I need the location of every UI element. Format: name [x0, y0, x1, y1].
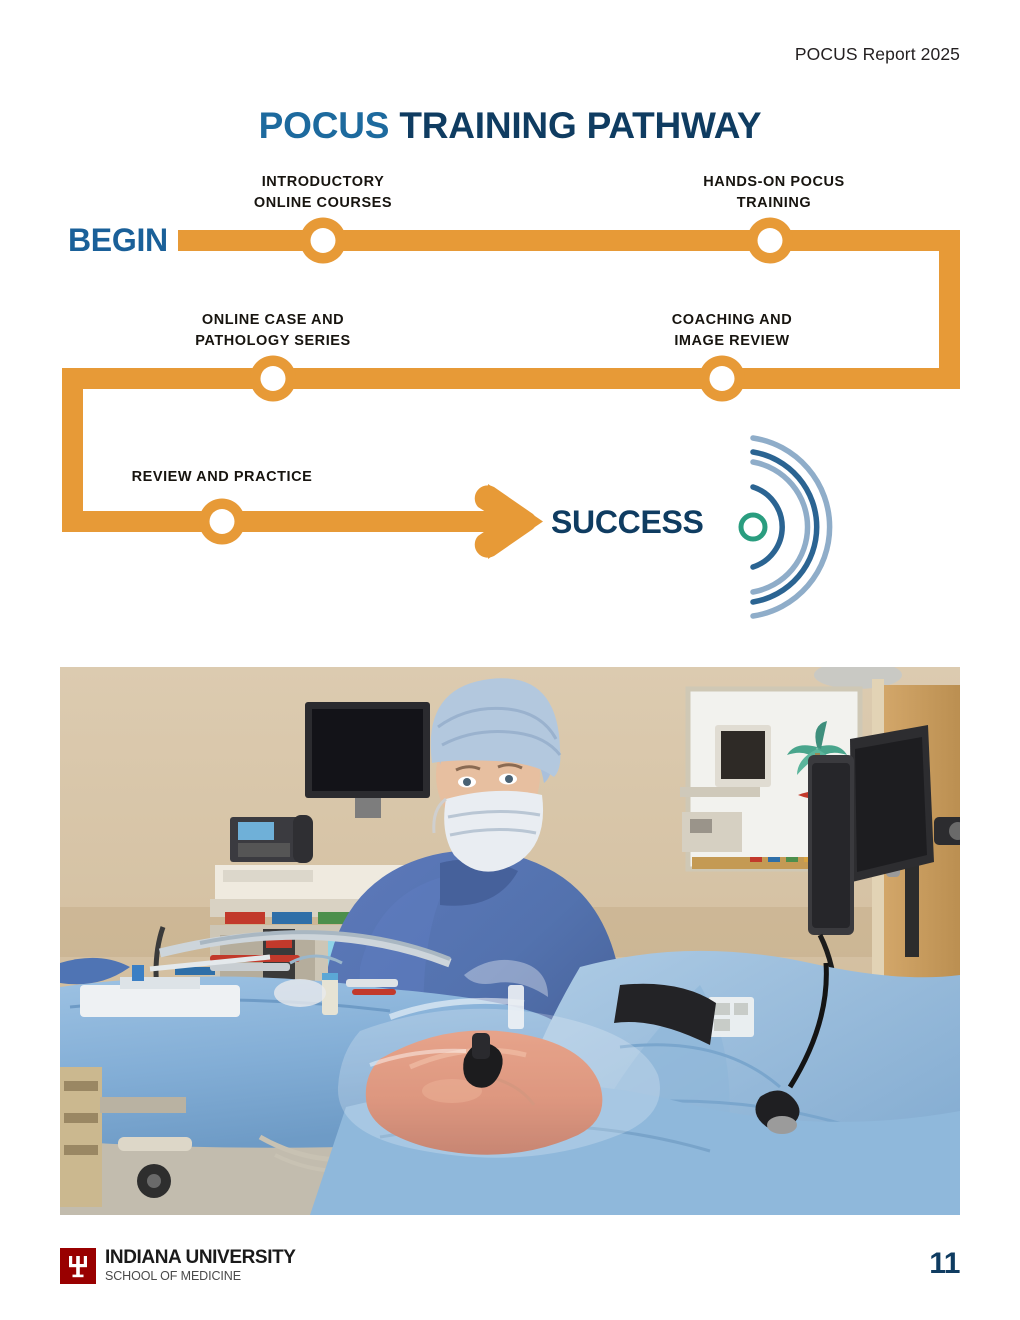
iu-school-name: SCHOOL OF MEDICINE [105, 1269, 296, 1283]
ultrasound-wave-icon [741, 438, 830, 616]
trident-glyph [65, 1253, 91, 1279]
procedure-photo-graphic [60, 667, 960, 1215]
track-row3 [62, 511, 502, 532]
ultrasound-center-dot [741, 515, 765, 539]
page-root: POCUS Report 2025 POCUS TRAINING PATHWAY [0, 0, 1020, 1320]
iu-trident-icon [60, 1248, 96, 1284]
track-connector-right [939, 230, 960, 388]
arrow-shaft [470, 511, 510, 532]
procedure-photo [60, 667, 960, 1215]
ultrasound-arc-1 [753, 487, 782, 567]
node-step-2-center [758, 228, 783, 253]
track-row2 [62, 368, 960, 389]
step-label-1: INTRODUCTORY ONLINE COURSES [203, 172, 443, 213]
node-step-4-center [710, 366, 735, 391]
step-label-3: ONLINE CASE AND PATHOLOGY SERIES [153, 310, 393, 351]
iu-logo: INDIANA UNIVERSITY SCHOOL OF MEDICINE [60, 1248, 296, 1284]
track-row1 [178, 230, 960, 251]
node-step-1-center [311, 228, 336, 253]
iu-university-name: INDIANA UNIVERSITY [105, 1248, 296, 1268]
node-step-5-center [210, 509, 235, 534]
begin-label: BEGIN [68, 222, 168, 259]
node-step-3-center [261, 366, 286, 391]
track-connector-left [62, 368, 83, 531]
step-label-2: HANDS-ON POCUS TRAINING [654, 172, 894, 213]
pathway-diagram: BEGIN SUCCESS INTRODUCTORY ONLINE COURSE… [0, 0, 1020, 640]
success-label: SUCCESS [551, 504, 704, 541]
step-label-4: COACHING AND IMAGE REVIEW [612, 310, 852, 351]
iu-wordmark: INDIANA UNIVERSITY SCHOOL OF MEDICINE [105, 1248, 296, 1283]
step-label-5: REVIEW AND PRACTICE [102, 467, 342, 488]
page-number: 11 [929, 1247, 960, 1281]
